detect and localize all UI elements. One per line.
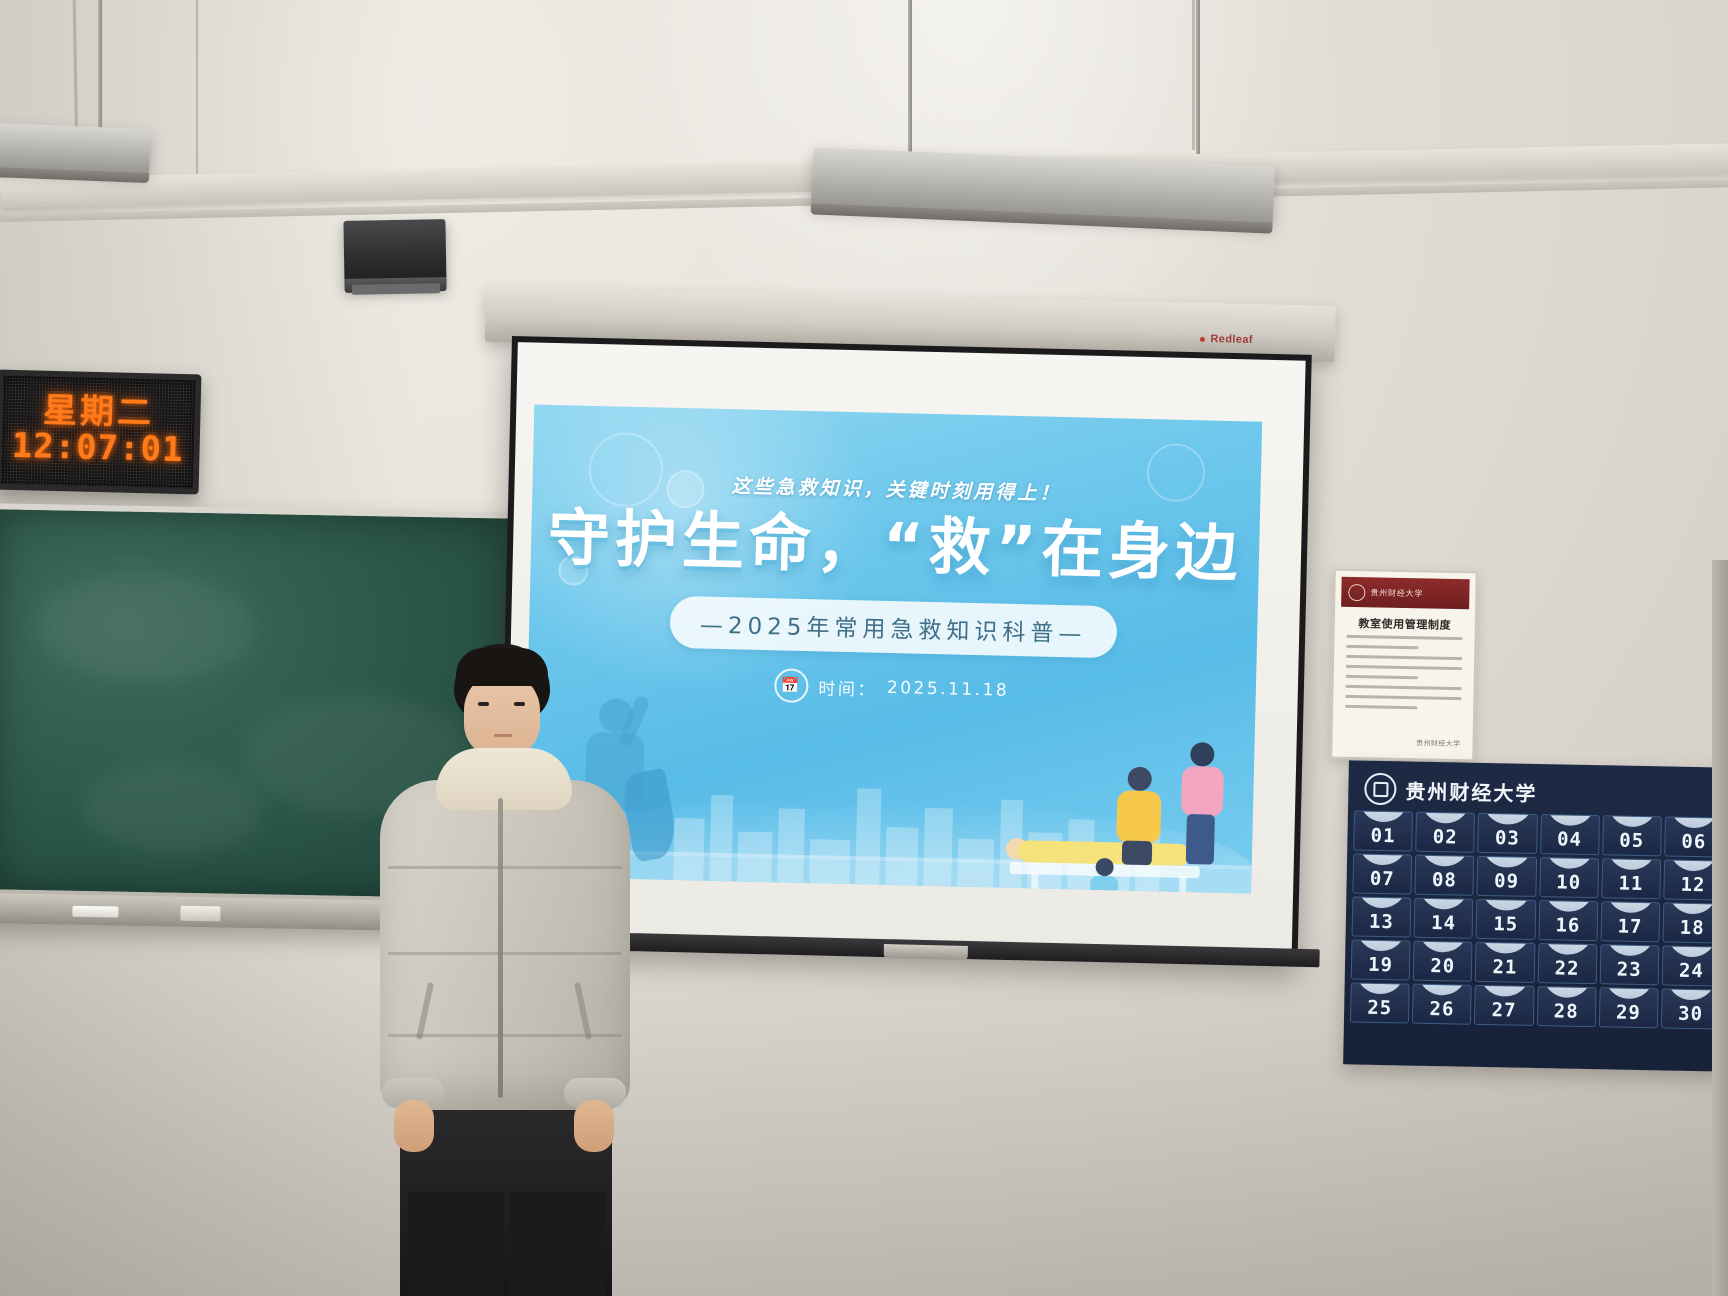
pocket-slot-number: 04: [1557, 828, 1582, 850]
door-frame-edge: [1712, 560, 1728, 1296]
pocket-slot-number: 07: [1370, 868, 1395, 890]
fixture-rod: [908, 0, 912, 162]
presentation-slide: 这些急救知识，关键时刻用得上！ 守护生命，“救”在身边 —2025年常用急救知识…: [523, 405, 1262, 894]
pocket-slot-number: 03: [1495, 827, 1520, 849]
pocket-slot[interactable]: 11: [1601, 858, 1661, 899]
table-leg: [1178, 876, 1186, 894]
pocket-slot-number: 11: [1618, 873, 1643, 895]
pocket-slot-number: 10: [1556, 871, 1581, 893]
pocket-slot[interactable]: 13: [1352, 896, 1412, 937]
poster-text-line: [1347, 635, 1463, 640]
university-emblem-icon: [1348, 583, 1365, 600]
pocket-grid: 0102030405060708091011121314151617181920…: [1350, 810, 1724, 1029]
fixture-rod: [98, 0, 102, 130]
nurse-legs: [1186, 814, 1215, 865]
wall-speaker: [343, 219, 446, 289]
medic-body: [1116, 790, 1161, 843]
pocket-slot[interactable]: 03: [1478, 813, 1538, 854]
pocket-slot[interactable]: 02: [1415, 812, 1475, 853]
poster-university-name: 贵州财经大学: [1370, 587, 1423, 599]
pocket-slot-number: 21: [1492, 956, 1517, 978]
pocket-slot-number: 27: [1491, 999, 1516, 1021]
jacket-seam: [388, 866, 622, 869]
pocket-slot[interactable]: 25: [1350, 982, 1410, 1023]
pocket-slot[interactable]: 07: [1352, 853, 1412, 894]
pocket-slot[interactable]: 23: [1599, 944, 1659, 985]
pocket-slot-number: 19: [1368, 954, 1393, 976]
jacket-zipper: [498, 798, 503, 1098]
table-leg: [1030, 872, 1038, 893]
person-mouth: [494, 734, 512, 737]
poster-header: 贵州财经大学: [1341, 577, 1470, 609]
classroom-scene: 星期二 12:07:01 Redleaf: [0, 0, 1728, 1296]
pocket-slot[interactable]: 29: [1599, 987, 1659, 1028]
pocket-slot-number: 15: [1493, 913, 1518, 935]
pocket-slot[interactable]: 22: [1537, 943, 1597, 984]
wall-poster: 贵州财经大学 教室使用管理制度 贵州财经大学: [1330, 569, 1478, 762]
ceiling-light-fixture: [0, 123, 151, 175]
poster-signature: 贵州财经大学: [1416, 738, 1461, 749]
nurse-head: [1190, 742, 1215, 767]
trouser-leg: [510, 1192, 606, 1296]
poster-text-line: [1346, 665, 1462, 670]
pocket-slot-number: 12: [1680, 874, 1705, 896]
person-eye: [478, 702, 489, 706]
pocket-slot-number: 17: [1617, 916, 1642, 938]
pocket-slot[interactable]: 09: [1477, 856, 1537, 897]
pocket-slot[interactable]: 17: [1600, 901, 1660, 942]
screen-brand-label: Redleaf: [1210, 333, 1253, 346]
pocket-slot[interactable]: 04: [1540, 814, 1600, 855]
pocket-slot-number: 05: [1619, 830, 1644, 852]
pocket-slot-number: 28: [1554, 1000, 1579, 1022]
speaker-bracket: [352, 283, 440, 295]
poster-text-line: [1345, 705, 1417, 709]
pocket-slot-number: 09: [1494, 870, 1519, 892]
poster-title: 教室使用管理制度: [1335, 615, 1475, 634]
ceiling-seam: [196, 0, 198, 196]
jacket-seam: [388, 952, 622, 955]
pocket-slot[interactable]: 26: [1412, 984, 1472, 1025]
calendar-clock-icon: 📅: [774, 668, 809, 703]
chalk-smudge: [35, 570, 257, 684]
poster-text-line: [1346, 655, 1462, 660]
poster-body-text: [1345, 635, 1463, 717]
pocket-slot[interactable]: 27: [1474, 985, 1534, 1026]
slide-date-label: 时间：: [818, 674, 877, 700]
pocket-slot-number: 29: [1616, 1002, 1641, 1024]
trouser-leg: [408, 1192, 504, 1296]
poster-text-line: [1346, 645, 1418, 649]
pocket-slot[interactable]: 08: [1415, 855, 1475, 896]
pocket-slot[interactable]: 21: [1475, 942, 1535, 983]
medic-head: [1127, 767, 1152, 792]
pocket-chart-header: 贵州财经大学: [1354, 766, 1725, 817]
pocket-slot[interactable]: 10: [1539, 857, 1599, 898]
pocket-slot-number: 13: [1369, 911, 1394, 933]
poster-text-line: [1345, 695, 1461, 700]
board-eraser: [180, 906, 220, 922]
pocket-slot[interactable]: 15: [1476, 899, 1536, 940]
slide-date-line: 📅 时间： 2025.11.18: [774, 668, 1010, 708]
chalk-smudge: [82, 761, 264, 854]
person-hood-collar: [436, 748, 572, 810]
pocket-slot-number: 01: [1370, 825, 1395, 847]
medic-figure: [1112, 766, 1166, 863]
pocket-slot-number: 14: [1431, 912, 1456, 934]
university-emblem-icon: [1364, 773, 1397, 806]
clock-time: 12:07:01: [1, 426, 194, 471]
person-eye: [514, 702, 525, 706]
pocket-slot[interactable]: 28: [1536, 986, 1596, 1027]
pocket-slot-number: 08: [1432, 869, 1457, 891]
pocket-slot-number: 23: [1617, 959, 1642, 981]
child-body: [1090, 876, 1119, 894]
fixture-rod: [1196, 0, 1200, 166]
child-figure: [1086, 858, 1121, 894]
pocket-slot-number: 24: [1679, 960, 1704, 982]
slide-first-aid-illustration: [999, 684, 1234, 889]
pocket-slot-number: 25: [1367, 997, 1392, 1019]
pocket-slot[interactable]: 20: [1413, 941, 1473, 982]
pocket-slot-number: 22: [1554, 957, 1579, 979]
pocket-slot[interactable]: 19: [1351, 939, 1411, 980]
person-fringe: [456, 648, 548, 686]
phone-pocket-chart: 贵州财经大学 010203040506070809101112131415161…: [1343, 760, 1728, 1071]
slide-date-value: 2025.11.18: [887, 678, 1010, 701]
slide-subtitle-pill: —2025年常用急救知识科普—: [669, 596, 1117, 659]
medic-legs: [1122, 841, 1153, 866]
led-clock-display: 星期二 12:07:01: [0, 370, 201, 495]
presenter-person: [374, 630, 634, 1296]
poster-text-line: [1346, 675, 1418, 679]
ceiling-seam: [1192, 0, 1195, 150]
pocket-slot-number: 20: [1430, 955, 1455, 977]
pocket-slot-number: 30: [1678, 1003, 1703, 1025]
pocket-slot-number: 02: [1433, 826, 1458, 848]
pocket-slot[interactable]: 16: [1538, 900, 1598, 941]
person-hand: [574, 1100, 614, 1152]
person-hand: [394, 1100, 434, 1152]
pocket-slot[interactable]: 01: [1353, 810, 1413, 851]
pocket-slot[interactable]: 14: [1414, 898, 1474, 939]
pocket-chart-university-name: 贵州财经大学: [1405, 775, 1538, 807]
poster-text-line: [1346, 685, 1462, 690]
nurse-body: [1181, 766, 1224, 817]
chalk-stick: [72, 906, 118, 918]
screen-pull-handle[interactable]: [884, 944, 968, 960]
pocket-slot-number: 06: [1681, 831, 1706, 853]
pocket-slot-number: 26: [1429, 998, 1454, 1020]
pocket-slot-number: 18: [1680, 917, 1705, 939]
pocket-slot-number: 16: [1555, 914, 1580, 936]
person-jacket: [380, 780, 630, 1110]
nurse-figure: [1176, 742, 1229, 867]
pocket-slot[interactable]: 05: [1602, 815, 1662, 856]
child-head: [1095, 858, 1113, 876]
